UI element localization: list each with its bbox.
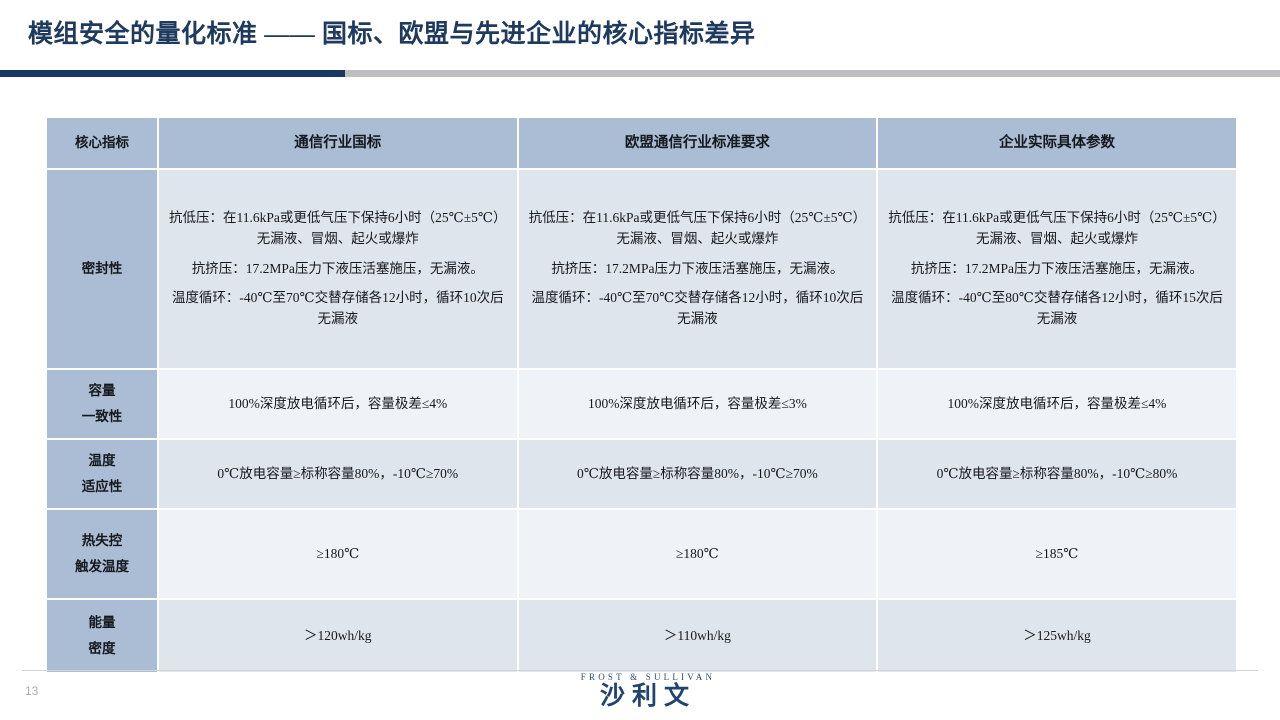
row-label-line-1: 容量 <box>57 378 147 404</box>
cell-paragraph: 温度循环：-40℃至70℃交替存储各12小时，循环10次后无漏液 <box>169 288 507 330</box>
cell-capacity-enterprise: 100%深度放电循环后，容量极差≤4% <box>878 370 1236 438</box>
row-label-line-1: 温度 <box>57 448 147 474</box>
cell-paragraph: 温度循环：-40℃至70℃交替存储各12小时，循环10次后无漏液 <box>529 288 867 330</box>
row-label-sealing: 密封性 <box>47 170 157 368</box>
table-row: 能量 密度 ＞120wh/kg ＞110wh/kg ＞125wh <box>47 600 1236 672</box>
cell-temperature-national: 0℃放电容量≥标称容量80%，-10℃≥70% <box>159 440 517 508</box>
row-label-line-1: 能量 <box>57 610 147 636</box>
cell-temperature-enterprise: 0℃放电容量≥标称容量80%，-10℃≥80% <box>878 440 1236 508</box>
cell-sealing-national: 抗低压：在11.6kPa或更低气压下保持6小时（25℃±5℃）无漏液、冒烟、起火… <box>159 170 517 368</box>
cell-thermal-eu: ≥180℃ <box>519 510 877 598</box>
cell-paragraph: 0℃放电容量≥标称容量80%，-10℃≥80% <box>888 464 1226 485</box>
cell-paragraph: 抗低压：在11.6kPa或更低气压下保持6小时（25℃±5℃）无漏液、冒烟、起火… <box>169 208 507 250</box>
cell-energy-eu: ＞110wh/kg <box>519 600 877 672</box>
row-label-line-2: 触发温度 <box>57 554 147 580</box>
cell-paragraph: 抗挤压：17.2MPa压力下液压活塞施压，无漏液。 <box>169 259 507 280</box>
row-label-thermal-runaway-trigger: 热失控 触发温度 <box>47 510 157 598</box>
row-label-line-1: 密封性 <box>57 256 147 282</box>
cell-paragraph: ≥180℃ <box>169 544 507 565</box>
spec-comparison-table: 核心指标 通信行业国标 欧盟通信行业标准要求 企业实际具体参数 密封性 抗低压：… <box>45 116 1238 674</box>
accent-bar-navy-segment <box>0 70 345 77</box>
cell-paragraph: 0℃放电容量≥标称容量80%，-10℃≥70% <box>169 464 507 485</box>
cell-energy-enterprise: ＞125wh/kg <box>878 600 1236 672</box>
cell-paragraph: ＞110wh/kg <box>529 626 867 647</box>
title-accent-bar <box>0 70 1280 77</box>
page-number: 13 <box>25 684 38 698</box>
logo-english-text: FROST & SULLIVAN <box>573 672 723 682</box>
row-label-line-1: 热失控 <box>57 528 147 554</box>
cell-paragraph: 抗挤压：17.2MPa压力下液压活塞施压，无漏液。 <box>888 259 1226 280</box>
spec-table-container: 核心指标 通信行业国标 欧盟通信行业标准要求 企业实际具体参数 密封性 抗低压：… <box>45 116 1228 674</box>
row-label-line-2: 密度 <box>57 636 147 662</box>
cell-sealing-enterprise: 抗低压：在11.6kPa或更低气压下保持6小时（25℃±5℃）无漏液、冒烟、起火… <box>878 170 1236 368</box>
cell-paragraph: ＞120wh/kg <box>169 626 507 647</box>
column-header-metric: 核心指标 <box>47 118 157 168</box>
cell-paragraph: 0℃放电容量≥标称容量80%，-10℃≥70% <box>529 464 867 485</box>
row-label-line-2: 适应性 <box>57 474 147 500</box>
cell-paragraph: 抗挤压：17.2MPa压力下液压活塞施压，无漏液。 <box>529 259 867 280</box>
column-header-national-standard: 通信行业国标 <box>159 118 517 168</box>
cell-sealing-eu: 抗低压：在11.6kPa或更低气压下保持6小时（25℃±5℃）无漏液、冒烟、起火… <box>519 170 877 368</box>
cell-capacity-eu: 100%深度放电循环后，容量极差≤3% <box>519 370 877 438</box>
row-label-energy-density: 能量 密度 <box>47 600 157 672</box>
cell-paragraph: 温度循环：-40℃至80℃交替存储各12小时，循环15次后无漏液 <box>888 288 1226 330</box>
cell-paragraph: 100%深度放电循环后，容量极差≤4% <box>169 394 507 415</box>
cell-paragraph: 100%深度放电循环后，容量极差≤4% <box>888 394 1226 415</box>
table-row: 密封性 抗低压：在11.6kPa或更低气压下保持6小时（25℃±5℃）无漏液、冒… <box>47 170 1236 368</box>
column-header-enterprise-actual: 企业实际具体参数 <box>878 118 1236 168</box>
row-label-temperature-adaptability: 温度 适应性 <box>47 440 157 508</box>
cell-paragraph: 抗低压：在11.6kPa或更低气压下保持6小时（25℃±5℃）无漏液、冒烟、起火… <box>529 208 867 250</box>
column-header-eu-standard: 欧盟通信行业标准要求 <box>519 118 877 168</box>
cell-paragraph: 抗低压：在11.6kPa或更低气压下保持6小时（25℃±5℃）无漏液、冒烟、起火… <box>888 208 1226 250</box>
row-label-line-2: 一致性 <box>57 404 147 430</box>
cell-temperature-eu: 0℃放电容量≥标称容量80%，-10℃≥70% <box>519 440 877 508</box>
cell-paragraph: ≥185℃ <box>888 544 1226 565</box>
cell-capacity-national: 100%深度放电循环后，容量极差≤4% <box>159 370 517 438</box>
logo-chinese-text: 沙利文 <box>573 683 723 709</box>
cell-paragraph: ≥180℃ <box>529 544 867 565</box>
table-row: 热失控 触发温度 ≥180℃ ≥180℃ ≥185℃ <box>47 510 1236 598</box>
accent-bar-gray-segment <box>345 70 1280 77</box>
page-title: 模组安全的量化标准 —— 国标、欧盟与先进企业的核心指标差异 <box>28 14 756 50</box>
cell-energy-national: ＞120wh/kg <box>159 600 517 672</box>
row-label-capacity-consistency: 容量 一致性 <box>47 370 157 438</box>
footer-divider <box>22 670 1258 671</box>
table-row: 温度 适应性 0℃放电容量≥标称容量80%，-10℃≥70% 0℃放电容量≥标称… <box>47 440 1236 508</box>
cell-paragraph: 100%深度放电循环后，容量极差≤3% <box>529 394 867 415</box>
frost-sullivan-logo: FROST & SULLIVAN 沙利文 <box>573 672 723 709</box>
table-row: 容量 一致性 100%深度放电循环后，容量极差≤4% 100%深度放电循环后，容… <box>47 370 1236 438</box>
cell-thermal-national: ≥180℃ <box>159 510 517 598</box>
table-header-row: 核心指标 通信行业国标 欧盟通信行业标准要求 企业实际具体参数 <box>47 118 1236 168</box>
cell-thermal-enterprise: ≥185℃ <box>878 510 1236 598</box>
cell-paragraph: ＞125wh/kg <box>888 626 1226 647</box>
